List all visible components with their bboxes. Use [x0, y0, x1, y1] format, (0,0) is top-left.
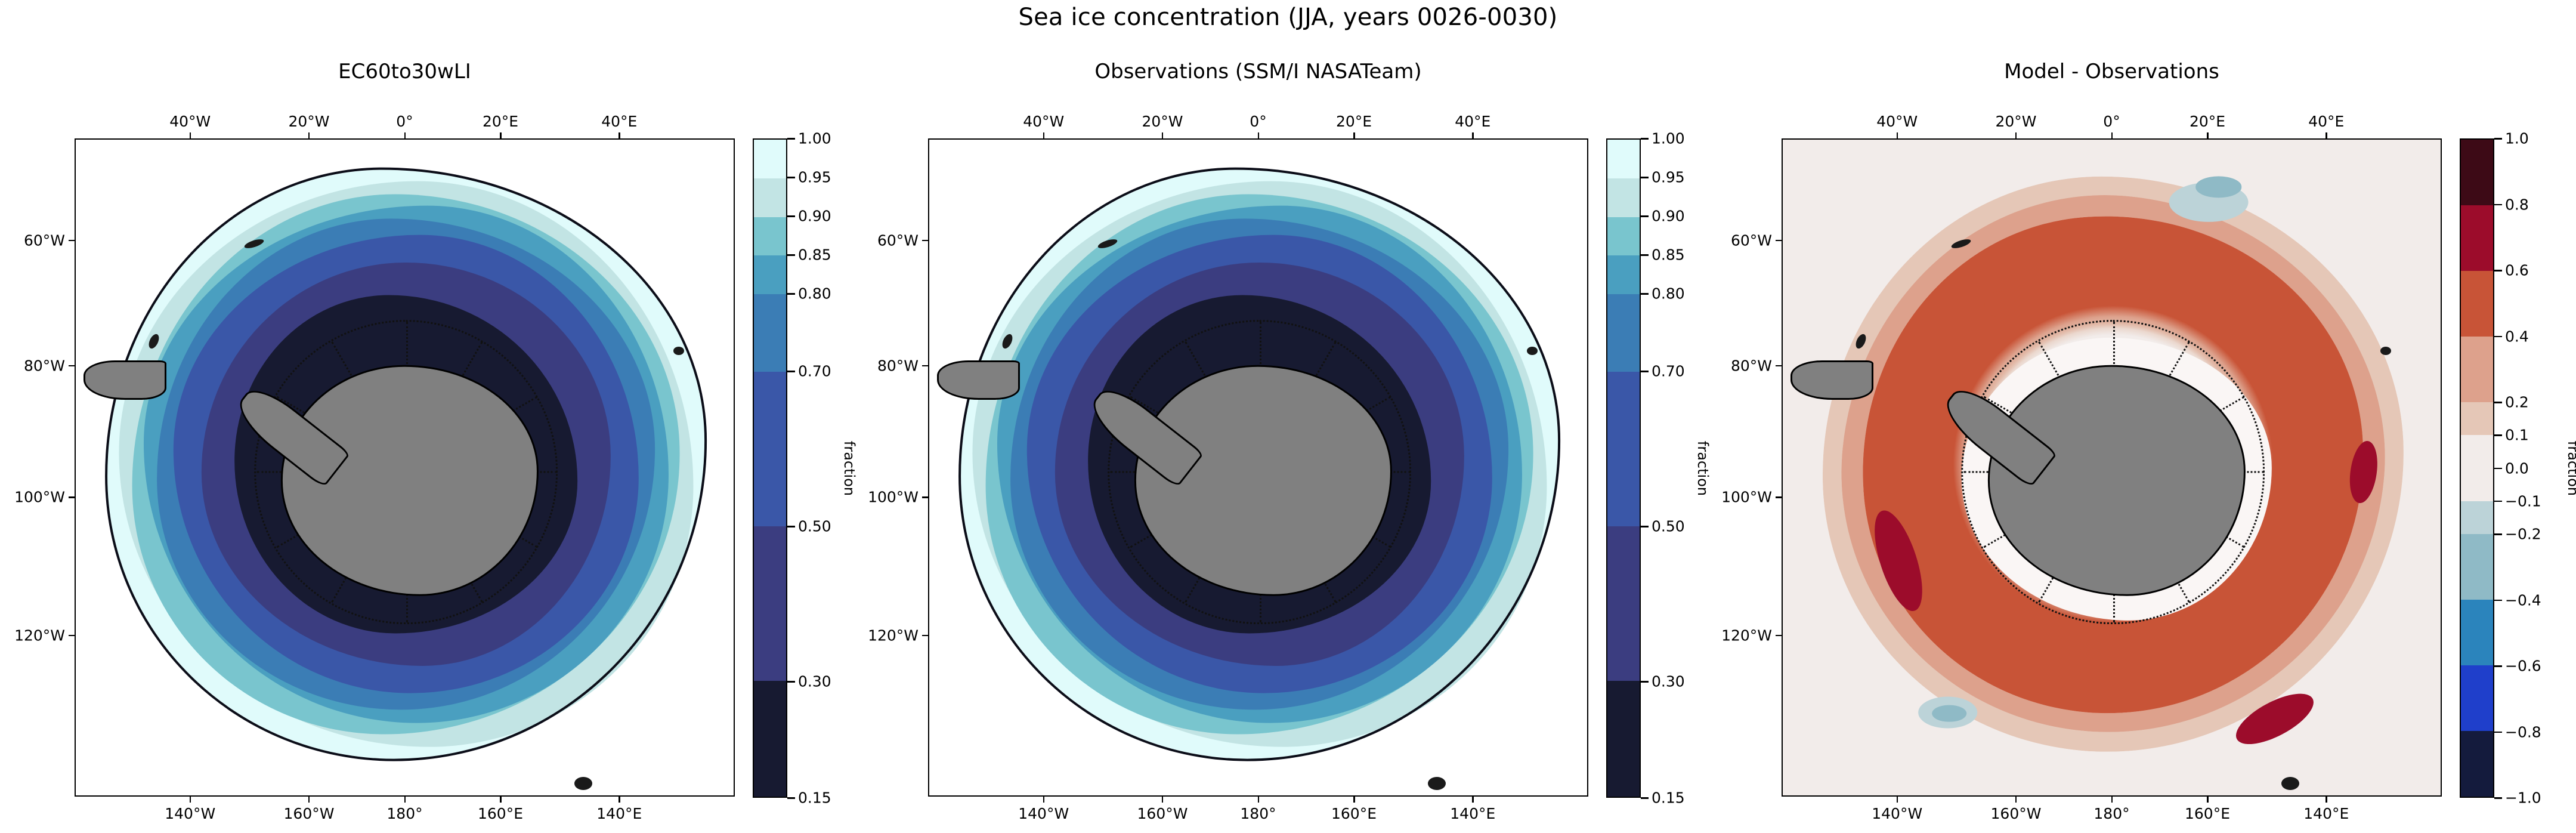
map-canvas-observations: [929, 140, 1587, 795]
colorbar-tick-label-0-0: 1.00: [798, 130, 831, 147]
tick-bottom: [619, 797, 620, 803]
tick-bottom: [190, 797, 191, 803]
panel-title-observations: Observations (SSM/I NASATeam): [928, 60, 1588, 84]
colorbar-tick-mark: [2494, 732, 2502, 733]
colorbar-tick-label-1-1: 0.95: [1652, 169, 1685, 186]
kerguelen-islet: [2380, 347, 2391, 355]
ytick-left-0-2: 100°W: [14, 489, 65, 506]
colorbar-tick-label-2-1: 0.8: [2505, 196, 2529, 213]
xtick-top-1-0: 40°W: [1023, 113, 1064, 130]
south-america-tip: [937, 360, 1020, 400]
map-canvas-model: [76, 140, 734, 795]
xtick-top-0-1: 20°W: [288, 113, 329, 130]
tick-left: [69, 240, 75, 242]
colorbar-tick-label-0-3: 0.85: [798, 246, 831, 264]
xtick-top-2-3: 20°E: [2190, 113, 2225, 130]
colorbar-segment: [754, 178, 786, 217]
colorbar-tick-label-0-2: 0.90: [798, 208, 831, 225]
colorbar-tick-label-0-7: 0.30: [798, 673, 831, 690]
colorbar-tick-mark: [2494, 270, 2502, 272]
colorbar-tick-label-2-5: 0.1: [2505, 427, 2529, 444]
ytick-left-0-0: 60°W: [24, 232, 65, 249]
colorbar-tick-label-1-6: 0.50: [1652, 518, 1685, 535]
xtick-top-2-4: 40°E: [2308, 113, 2344, 130]
map-canvas-difference: [1783, 140, 2441, 795]
colorbar-segment: [754, 217, 786, 256]
xtick-bottom-2-0: 140°W: [1872, 805, 1922, 822]
south-america-tip: [84, 360, 166, 400]
colorbar-tick-mark: [787, 293, 795, 295]
colorbar-tick-label-2-4: 0.2: [2505, 394, 2529, 411]
colorbar-tick-label-0-6: 0.50: [798, 518, 831, 535]
tick-bottom: [1258, 797, 1260, 803]
colorbar-segment: [1607, 681, 1640, 797]
tick-top: [190, 132, 191, 138]
colorbar-tick-label-1-0: 1.00: [1652, 130, 1685, 147]
colorbar-tick-label-2-10: −0.6: [2505, 658, 2541, 675]
colorbar-segment: [754, 526, 786, 681]
xtick-top-0-0: 40°W: [169, 113, 211, 130]
xtick-top-0-2: 0°: [396, 113, 413, 130]
colorbar-tick-label-2-0: 1.0: [2505, 130, 2529, 147]
colorbar-tick-label-1-7: 0.30: [1652, 673, 1685, 690]
colorbar-tick-label-1-2: 0.90: [1652, 208, 1685, 225]
tick-top: [404, 132, 406, 138]
colorbar-tick-label-1-3: 0.85: [1652, 246, 1685, 264]
map-panel-model: [75, 138, 735, 797]
tick-top: [1162, 132, 1164, 138]
colorbar-segment: [2461, 271, 2493, 337]
colorbar-tick-mark: [787, 138, 795, 140]
panel-title-difference: Model - Observations: [1782, 60, 2442, 84]
colorbar-ticks-difference: 1.00.80.60.40.20.10.0−0.1−0.2−0.4−0.6−0.…: [2494, 138, 2576, 798]
colorbar-segment: [2461, 402, 2493, 435]
xtick-bottom-2-3: 160°E: [2185, 805, 2230, 822]
colorbar-tick-mark: [2494, 665, 2502, 667]
tick-top: [1043, 132, 1045, 138]
tick-bottom: [1897, 797, 1898, 803]
tick-bottom: [1353, 797, 1355, 803]
colorbar-segment: [2461, 501, 2493, 534]
colorbar-segment: [754, 294, 786, 372]
colorbar-observations[interactable]: [1606, 138, 1641, 798]
colorbar-tick-mark: [787, 215, 795, 217]
colorbar-tick-mark: [1641, 254, 1649, 256]
colorbar-segment: [2461, 435, 2493, 468]
figure-title: Sea ice concentration (JJA, years 0026-0…: [0, 4, 2576, 31]
tick-top: [2207, 132, 2209, 138]
colorbar-segment: [2461, 534, 2493, 600]
colorbar-tick-mark: [2494, 501, 2502, 502]
xtick-top-2-1: 20°W: [1995, 113, 2036, 130]
colorbar-tick-mark: [1641, 797, 1649, 799]
tasmania-islet: [2281, 777, 2299, 790]
xtick-bottom-2-1: 160°W: [1991, 805, 2042, 822]
colorbar-segment: [2461, 140, 2493, 205]
xtick-top-0-3: 20°E: [483, 113, 518, 130]
colorbar-tick-mark: [1641, 681, 1649, 683]
xtick-bottom-0-3: 160°E: [478, 805, 523, 822]
colorbar-axis-label-difference: fraction: [2565, 440, 2576, 495]
colorbar-segment: [1607, 178, 1640, 217]
colorbar-segment: [1607, 372, 1640, 526]
xtick-top-2-2: 0°: [2103, 113, 2120, 130]
tick-top: [2015, 132, 2017, 138]
colorbar-tick-mark: [1641, 138, 1649, 140]
colorbar-tick-mark: [2494, 434, 2502, 436]
xtick-bottom-1-0: 140°W: [1018, 805, 1069, 822]
xtick-top-1-1: 20°W: [1142, 113, 1183, 130]
colorbar-tick-mark: [1641, 371, 1649, 372]
colorbar-difference[interactable]: [2460, 138, 2494, 798]
xtick-bottom-0-4: 140°E: [596, 805, 642, 822]
tasmania-islet: [1428, 777, 1446, 790]
tick-bottom: [1162, 797, 1164, 803]
colorbar-tick-label-0-5: 0.70: [798, 363, 831, 380]
tick-left: [69, 365, 75, 367]
tick-left: [922, 496, 928, 498]
colorbar-tick-mark: [2494, 402, 2502, 403]
colorbar-tick-mark: [787, 681, 795, 683]
tick-top: [619, 132, 620, 138]
colorbar-axis-label-observations: fraction: [1694, 440, 1711, 495]
map-panel-observations: [928, 138, 1588, 797]
colorbar-tick-label-1-5: 0.70: [1652, 363, 1685, 380]
colorbar-tick-mark: [2494, 336, 2502, 338]
tick-top: [2325, 132, 2327, 138]
colorbar-model[interactable]: [753, 138, 787, 798]
tick-left: [1776, 635, 1782, 637]
tick-bottom: [2015, 797, 2017, 803]
diff-hotspot-northwest: [1985, 291, 2017, 317]
colorbar-tick-mark: [2494, 468, 2502, 470]
xtick-top-1-4: 40°E: [1455, 113, 1490, 130]
tick-top: [1897, 132, 1898, 138]
colorbar-segment: [754, 140, 786, 178]
tick-left: [922, 365, 928, 367]
tick-top: [1472, 132, 1474, 138]
xtick-bottom-1-2: 180°: [1240, 805, 1276, 822]
tick-left: [922, 635, 928, 637]
tasmania-islet: [574, 777, 592, 790]
colorbar-tick-mark: [787, 526, 795, 527]
xtick-top-2-0: 40°W: [1876, 113, 1918, 130]
tick-left: [922, 240, 928, 242]
colorbar-tick-mark: [1641, 177, 1649, 178]
colorbar-segment: [2461, 468, 2493, 501]
colorbar-segment: [754, 372, 786, 526]
colorbar-tick-mark: [2494, 138, 2502, 140]
colorbar-tick-mark: [1641, 293, 1649, 295]
colorbar-segment: [754, 681, 786, 797]
tick-bottom: [500, 797, 502, 803]
xtick-bottom-2-4: 140°E: [2303, 805, 2349, 822]
colorbar-tick-mark: [787, 797, 795, 799]
tick-left: [69, 635, 75, 637]
tick-bottom: [2325, 797, 2327, 803]
colorbar-tick-label-2-3: 0.4: [2505, 328, 2529, 345]
tick-bottom: [1472, 797, 1474, 803]
tick-left: [69, 496, 75, 498]
xtick-bottom-0-2: 180°: [386, 805, 422, 822]
xtick-bottom-1-3: 160°E: [1331, 805, 1377, 822]
figure-canvas: Sea ice concentration (JJA, years 0026-0…: [0, 0, 2576, 833]
tick-left: [1776, 496, 1782, 498]
colorbar-segment: [1607, 217, 1640, 256]
colorbar-tick-label-2-7: −0.1: [2505, 492, 2541, 510]
colorbar-segment: [2461, 337, 2493, 402]
tick-top: [1353, 132, 1355, 138]
tick-top: [2111, 132, 2113, 138]
xtick-bottom-0-0: 140°W: [165, 805, 215, 822]
xtick-top-0-4: 40°E: [601, 113, 637, 130]
xtick-bottom-1-4: 140°E: [1450, 805, 1495, 822]
xtick-top-1-3: 20°E: [1336, 113, 1372, 130]
ytick-left-0-1: 80°W: [24, 357, 65, 374]
colorbar-tick-label-0-8: 0.15: [798, 789, 831, 807]
xtick-top-1-2: 0°: [1250, 113, 1266, 130]
xtick-bottom-0-1: 160°W: [284, 805, 335, 822]
colorbar-tick-mark: [1641, 215, 1649, 217]
colorbar-tick-label-1-4: 0.80: [1652, 285, 1685, 303]
colorbar-segment: [2461, 205, 2493, 271]
tick-bottom: [2207, 797, 2209, 803]
colorbar-tick-label-2-11: −0.8: [2505, 723, 2541, 741]
tick-top: [1258, 132, 1260, 138]
colorbar-tick-mark: [787, 371, 795, 372]
colorbar-tick-label-0-1: 0.95: [798, 169, 831, 186]
tick-left: [1776, 365, 1782, 367]
tick-bottom: [1043, 797, 1045, 803]
colorbar-tick-mark: [2494, 797, 2502, 799]
colorbar-tick-label-2-12: −1.0: [2505, 789, 2541, 807]
south-america-tip: [1790, 360, 1873, 400]
colorbar-tick-mark: [2494, 600, 2502, 601]
colorbar-segment: [754, 255, 786, 294]
colorbar-tick-label-2-2: 0.6: [2505, 262, 2529, 279]
colorbar-tick-label-2-9: −0.4: [2505, 591, 2541, 609]
colorbar-segment: [2461, 600, 2493, 665]
diff-coolspot-southwest-core: [1932, 705, 1966, 722]
colorbar-tick-mark: [787, 254, 795, 256]
colorbar-tick-label-0-4: 0.80: [798, 285, 831, 303]
xtick-bottom-1-1: 160°W: [1137, 805, 1188, 822]
map-panel-difference: [1782, 138, 2442, 797]
colorbar-tick-label-2-8: −0.2: [2505, 526, 2541, 543]
colorbar-tick-label-1-8: 0.15: [1652, 789, 1685, 807]
colorbar-segment: [2461, 665, 2493, 731]
colorbar-segment: [1607, 255, 1640, 294]
colorbar-segment: [1607, 526, 1640, 681]
ytick-left-0-3: 120°W: [14, 627, 65, 644]
colorbar-tick-mark: [1641, 526, 1649, 527]
colorbar-segment: [1607, 140, 1640, 178]
panel-title-model: EC60to30wLI: [75, 60, 735, 84]
colorbar-tick-mark: [2494, 533, 2502, 535]
tick-bottom: [308, 797, 310, 803]
colorbar-axis-label-model: fraction: [841, 440, 858, 495]
xtick-bottom-2-2: 180°: [2093, 805, 2129, 822]
colorbar-segment: [1607, 294, 1640, 372]
tick-top: [308, 132, 310, 138]
tick-bottom: [404, 797, 406, 803]
colorbar-tick-mark: [787, 177, 795, 178]
colorbar-segment: [2461, 731, 2493, 797]
colorbar-tick-mark: [2494, 204, 2502, 206]
colorbar-tick-label-2-6: 0.0: [2505, 459, 2529, 477]
tick-top: [500, 132, 502, 138]
tick-bottom: [2111, 797, 2113, 803]
tick-left: [1776, 240, 1782, 242]
